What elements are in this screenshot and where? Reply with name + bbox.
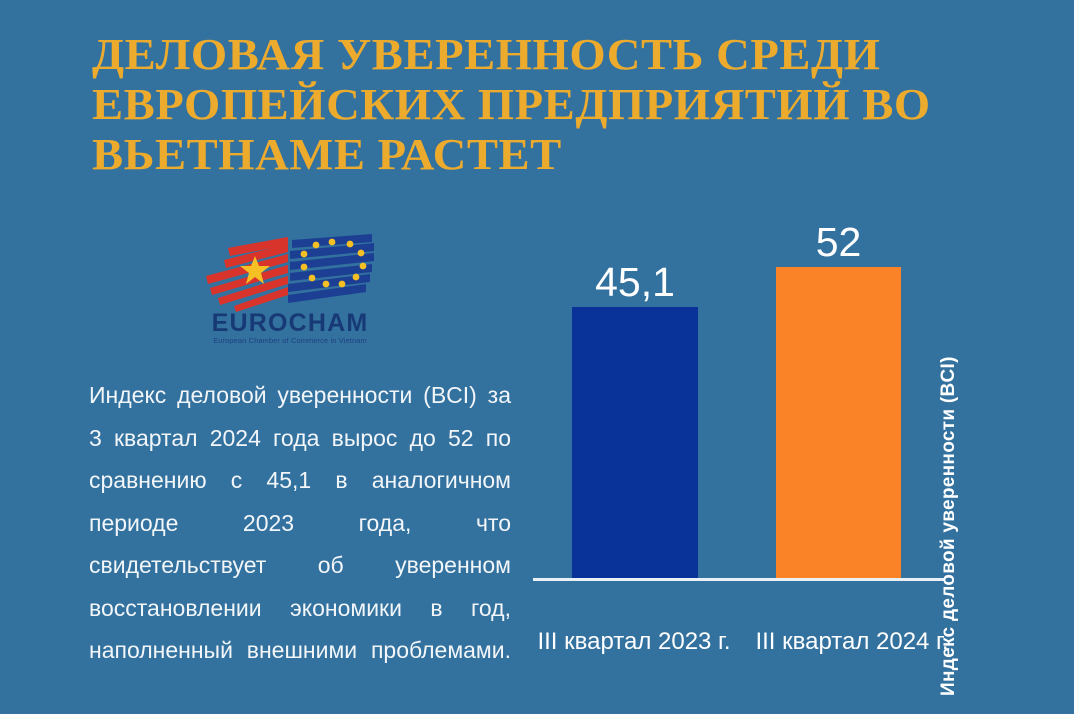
body-paragraph: Индекс деловой уверенности (BCI) за 3 кв… bbox=[89, 374, 511, 714]
flags-icon bbox=[200, 232, 380, 314]
logo-tagline: European Chamber of Commerce in Vietnam bbox=[200, 336, 380, 345]
infographic-page: ДЕЛОВАЯ УВЕРЕННОСТЬ СРЕДИ ЕВРОПЕЙСКИХ ПР… bbox=[0, 0, 1074, 714]
bar-value-label: 52 bbox=[776, 220, 901, 264]
eurocham-logo: EUROCHAM European Chamber of Commerce in… bbox=[200, 232, 380, 350]
eu-flag-icon bbox=[288, 234, 374, 303]
logo-wordmark: EUROCHAM bbox=[204, 310, 376, 336]
x-axis-category-label: III квартал 2023 г. bbox=[525, 626, 743, 658]
x-axis-category-label: III квартал 2024 г. bbox=[743, 626, 961, 658]
page-title-line-3: ВЬЕТНАМЕ РАСТЕТ bbox=[92, 130, 1074, 180]
page-title-line-1: ДЕЛОВАЯ УВЕРЕННОСТЬ СРЕДИ bbox=[92, 30, 1074, 80]
y-axis-title: Индекс деловой уверенности (BCI) bbox=[938, 276, 960, 696]
page-title: ДЕЛОВАЯ УВЕРЕННОСТЬ СРЕДИ ЕВРОПЕЙСКИХ ПР… bbox=[92, 30, 1022, 180]
bar-value-label: 45,1 bbox=[572, 260, 698, 304]
bar-q3-2024 bbox=[776, 267, 901, 580]
vietnam-flag-icon bbox=[206, 237, 288, 312]
page-title-line-2: ЕВРОПЕЙСКИХ ПРЕДПРИЯТИЙ ВО bbox=[92, 80, 1074, 130]
x-axis-line bbox=[533, 578, 945, 581]
bci-bar-chart: 52 45,1 III квартал 2023 г. III квартал … bbox=[520, 200, 990, 700]
bar-q3-2023 bbox=[572, 307, 698, 580]
